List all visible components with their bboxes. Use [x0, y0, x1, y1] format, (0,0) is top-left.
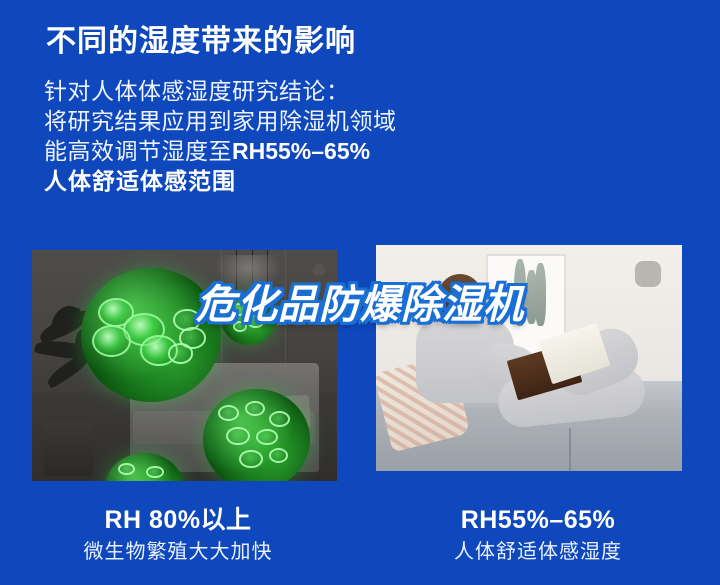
intro-line-3-range: RH55%–65%	[232, 138, 370, 164]
microbe-cell	[269, 448, 288, 463]
microbe-cell	[218, 405, 239, 421]
caption-left-title: RH 80%以上	[8, 505, 348, 535]
caption-right-subtitle: 人体舒适体感湿度	[368, 539, 708, 565]
caption-right-title: RH55%–65%	[368, 505, 708, 535]
microbe-cell	[146, 466, 163, 478]
caption-comfort-humidity: RH55%–65% 人体舒适体感湿度	[368, 505, 708, 565]
microbe-cell	[256, 429, 277, 445]
page-title: 不同的湿度带来的影响	[46, 16, 356, 60]
intro-line-2: 将研究结果应用到家用除湿机领域	[44, 106, 397, 136]
microbe-cell	[239, 450, 262, 468]
microbe-sphere-medium	[203, 389, 310, 481]
intro-paragraph: 针对人体体感湿度研究结论： 将研究结果应用到家用除湿机领域 能高效调节湿度至RH…	[44, 76, 397, 196]
caption-high-humidity: RH 80%以上 微生物繁殖大大加快	[8, 505, 348, 565]
microbe-cell	[269, 411, 290, 427]
product-wordmark: 危化品防爆除湿机	[0, 272, 720, 330]
caption-left-subtitle: 微生物繁殖大大加快	[8, 539, 348, 565]
microbe-cell	[245, 401, 264, 416]
intro-line-3-prefix: 能高效调节湿度至	[44, 138, 232, 164]
intro-line-4: 人体舒适体感范围	[44, 166, 397, 196]
microbe-cell	[168, 343, 193, 363]
intro-line-3: 能高效调节湿度至RH55%–65%	[44, 136, 397, 166]
intro-line-1: 针对人体体感湿度研究结论：	[44, 76, 397, 106]
microbe-cell	[118, 463, 135, 475]
right-photo-sofa-seam	[569, 428, 571, 471]
humidity-infographic-poster: 不同的湿度带来的影响 针对人体体感湿度研究结论： 将研究结果应用到家用除湿机领域…	[0, 0, 720, 585]
microbe-cell	[226, 427, 249, 445]
left-photo-plant-pot	[44, 421, 93, 476]
